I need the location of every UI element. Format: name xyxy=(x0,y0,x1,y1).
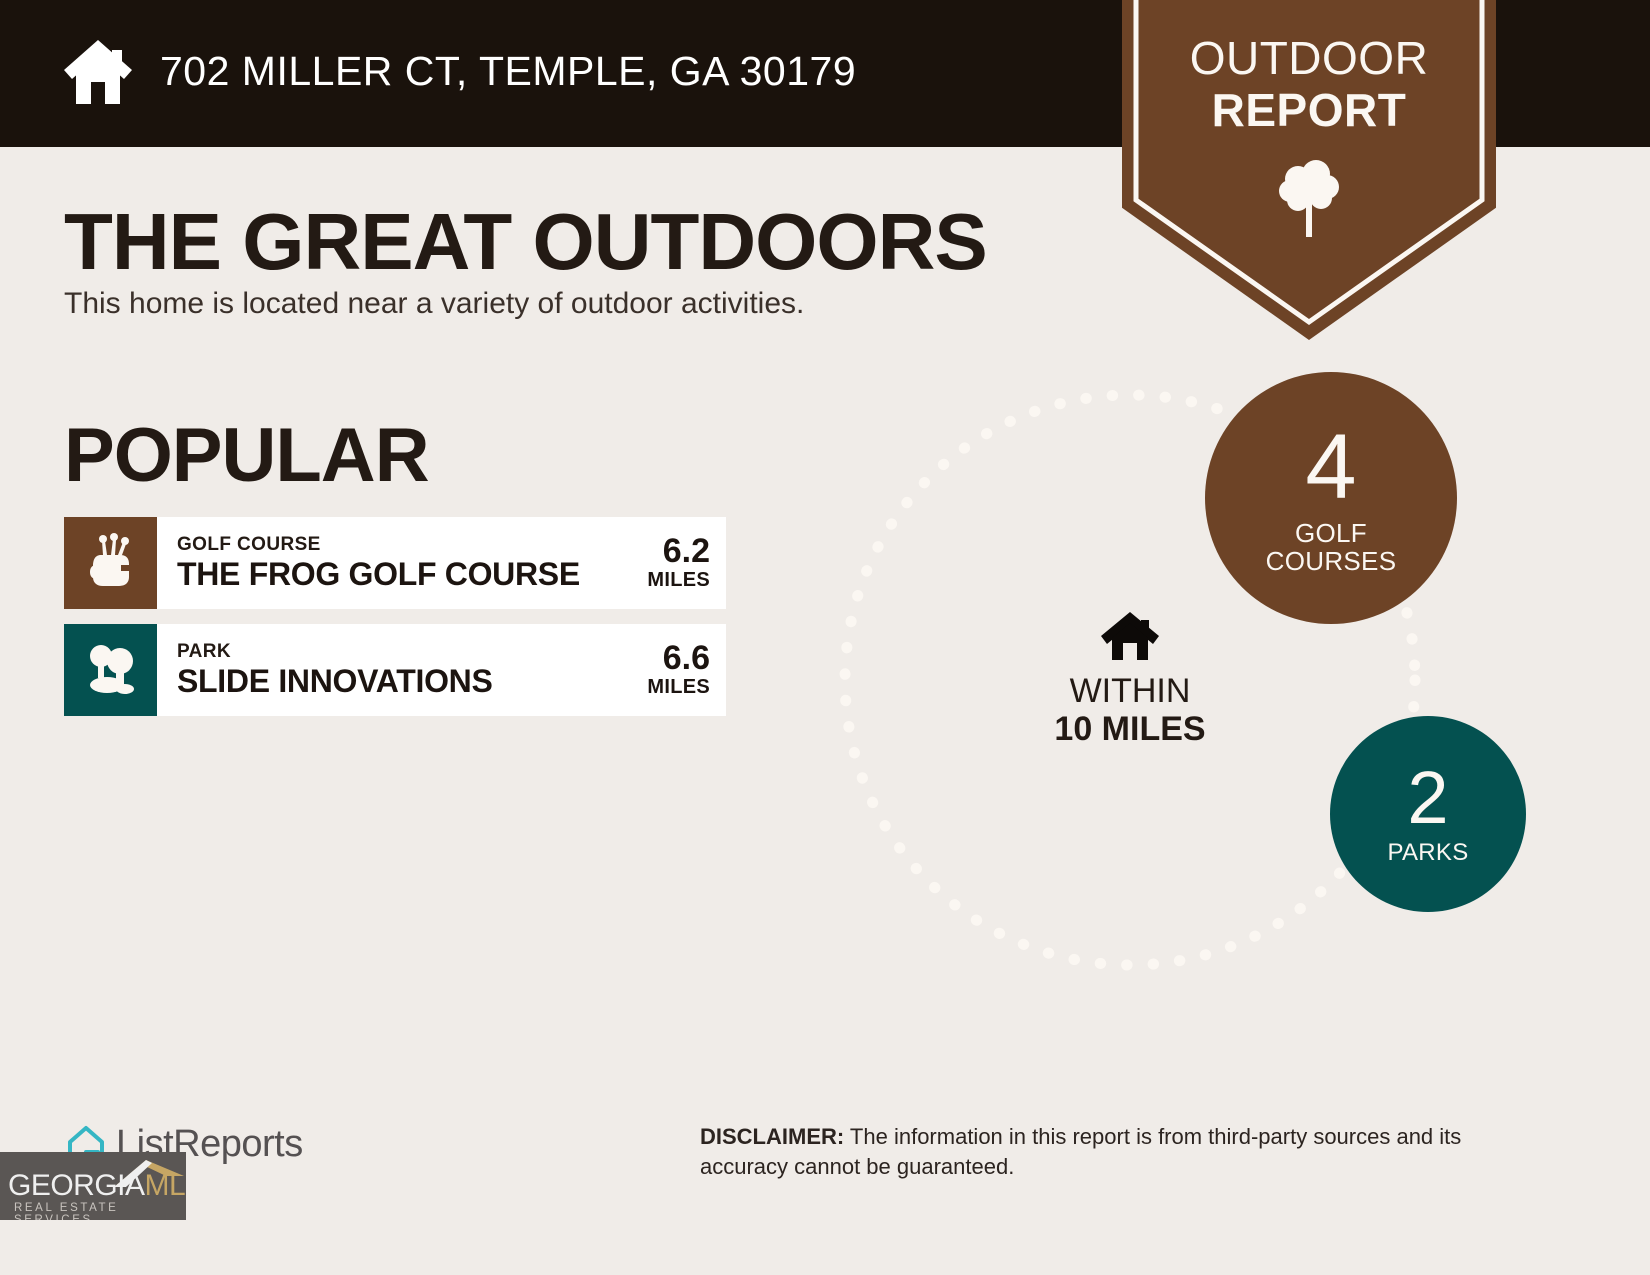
disclaimer: DISCLAIMER: The information in this repo… xyxy=(700,1122,1530,1182)
poi-distance-value: 6.6 xyxy=(663,641,710,675)
tree-icon xyxy=(1274,157,1344,239)
parks-count: 2 xyxy=(1407,761,1448,835)
center-marker: WITHIN 10 MILES xyxy=(1030,610,1230,748)
section-title-popular: POPULAR xyxy=(64,412,429,499)
badge-title-line1: OUTDOOR xyxy=(1190,32,1429,84)
golf-courses-label-line1: GOLF xyxy=(1266,519,1397,547)
outdoor-report-badge: OUTDOOR REPORT xyxy=(1122,0,1496,340)
parks-label: PARKS xyxy=(1387,839,1468,867)
golf-courses-count: 4 xyxy=(1305,421,1356,513)
list-item[interactable]: PARK SLIDE INNOVATIONS 6.6 MILES xyxy=(64,624,726,716)
count-bubble-golf-courses[interactable]: 4 GOLF COURSES xyxy=(1205,372,1457,624)
golf-courses-label-line2: COURSES xyxy=(1266,547,1397,575)
property-address: 702 MILLER CT, TEMPLE, GA 30179 xyxy=(160,48,856,95)
page-subtitle: This home is located near a variety of o… xyxy=(64,287,804,321)
home-icon xyxy=(58,32,138,112)
popular-poi-list: GOLF COURSE THE FROG GOLF COURSE 6.2 MIL… xyxy=(64,517,726,731)
disclaimer-label: DISCLAIMER: xyxy=(700,1124,844,1149)
poi-distance: 6.6 MILES xyxy=(616,624,726,716)
poi-icon-tile xyxy=(64,624,157,716)
georgiamls-part1: GEORGIA xyxy=(8,1169,145,1202)
home-icon xyxy=(1099,610,1161,662)
proximity-diagram: WITHIN 10 MILES 4 GOLF COURSES 2 PARKS xyxy=(830,360,1530,1000)
georgiamls-logo[interactable]: GEORGIAMLS REAL ESTATE SERVICES xyxy=(0,1152,186,1220)
poi-name: THE FROG GOLF COURSE xyxy=(177,556,616,592)
poi-distance-value: 6.2 xyxy=(663,534,710,568)
poi-text: GOLF COURSE THE FROG GOLF COURSE xyxy=(157,517,616,609)
poi-distance-unit: MILES xyxy=(647,675,710,699)
poi-category: PARK xyxy=(177,641,616,663)
golf-bag-icon xyxy=(85,533,137,594)
poi-text: PARK SLIDE INNOVATIONS xyxy=(157,624,616,716)
page-title: THE GREAT OUTDOORS xyxy=(64,196,987,288)
center-label-line2: 10 MILES xyxy=(1030,710,1230,748)
badge-title-line2: REPORT xyxy=(1122,84,1496,136)
georgiamls-tagline: REAL ESTATE SERVICES xyxy=(14,1202,186,1220)
golf-courses-label: GOLF COURSES xyxy=(1266,519,1397,575)
park-trees-icon xyxy=(85,640,137,701)
poi-distance: 6.2 MILES xyxy=(616,517,726,609)
georgiamls-wordmark: GEORGIAMLS xyxy=(8,1170,186,1202)
poi-distance-unit: MILES xyxy=(647,568,710,592)
poi-icon-tile xyxy=(64,517,157,609)
poi-name: SLIDE INNOVATIONS xyxy=(177,663,616,699)
list-item[interactable]: GOLF COURSE THE FROG GOLF COURSE 6.2 MIL… xyxy=(64,517,726,609)
badge-title: OUTDOOR REPORT xyxy=(1122,32,1496,136)
center-label-line1: WITHIN xyxy=(1030,672,1230,710)
georgiamls-part2: MLS xyxy=(145,1169,186,1202)
count-bubble-parks[interactable]: 2 PARKS xyxy=(1330,716,1526,912)
poi-category: GOLF COURSE xyxy=(177,534,616,556)
